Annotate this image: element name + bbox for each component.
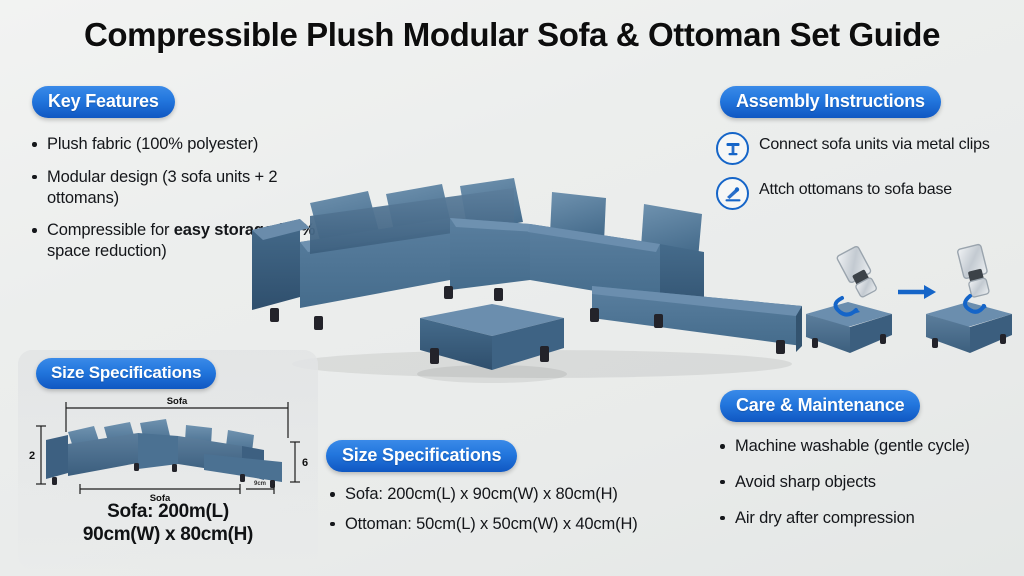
dimension-line-top	[66, 402, 288, 438]
care-list: Machine washable (gentle cycle) Avoid sh…	[716, 436, 1024, 528]
dimension-line-right	[290, 442, 300, 482]
assembly-badge: Assembly Instructions	[720, 86, 941, 118]
dimension-label-right: 6	[302, 457, 308, 469]
size-spec-text: Ottoman: 50cm(L) x 50cm(W) x 40cm(H)	[345, 515, 638, 533]
list-item: Ottoman: 50cm(L) x 50cm(W) x 40cm(H)	[326, 514, 696, 535]
main-sofa-illustration	[252, 168, 822, 393]
care-item-text: Air dry after compression	[735, 509, 915, 527]
metal-clip-icon	[836, 246, 880, 300]
ottoman-step-1	[806, 246, 892, 353]
sofa-set-ottoman	[417, 304, 567, 383]
size-specifications-panel: Size Specifications Sofa	[18, 350, 318, 570]
right-arrow	[898, 285, 936, 299]
dimension-line-left	[36, 426, 46, 484]
care-maintenance-section: Care & Maintenance Machine washable (gen…	[716, 390, 1024, 543]
assembly-step: Connect sofa units via metal clips	[716, 132, 1016, 165]
list-item: Avoid sharp objects	[716, 472, 1024, 493]
key-features-badge: Key Features	[32, 86, 175, 118]
page-title: Compressible Plush Modular Sofa & Ottoma…	[0, 16, 1024, 54]
list-item: Sofa: 200cm(L) x 90cm(W) x 80cm(H)	[326, 484, 696, 505]
dimension-line-bottom	[80, 484, 274, 494]
dimension-label-corner: 9cm	[254, 481, 266, 487]
assembly-step-text: Connect sofa units via metal clips	[759, 132, 990, 154]
metal-clip-icon	[957, 244, 992, 298]
list-item: Machine washable (gentle cycle)	[716, 436, 1024, 457]
list-item: Plush fabric (100% polyester)	[28, 134, 328, 155]
key-feature-text-before: Compressible for	[47, 221, 174, 239]
care-badge: Care & Maintenance	[720, 390, 920, 422]
care-item-text: Avoid sharp objects	[735, 473, 876, 491]
size-panel-caption-line1: Sofa: 200m(L)	[18, 500, 318, 523]
ottoman-step-2	[926, 244, 1012, 353]
key-feature-text-after: space reduction)	[47, 242, 167, 260]
size-specifications-center-section: Size Specifications Sofa: 200cm(L) x 90c…	[326, 440, 696, 544]
key-feature-text: Modular design (3 sofa units + 2 ottoman…	[47, 168, 277, 207]
sofa-dimension-diagram: Sofa 2 6	[24, 392, 314, 502]
size-specifications-list: Sofa: 200cm(L) x 90cm(W) x 80cm(H) Ottom…	[326, 484, 696, 535]
size-panel-badge: Size Specifications	[36, 358, 216, 389]
metal-clip-icon	[716, 132, 749, 165]
dimension-label-left: 2	[29, 450, 35, 462]
size-panel-caption-line2: 90cm(W) x 80cm(H)	[18, 523, 318, 546]
size-spec-text: Sofa: 200cm(L) x 90cm(W) x 80cm(H)	[345, 485, 618, 503]
size-panel-caption: Sofa: 200m(L) 90cm(W) x 80cm(H)	[18, 500, 318, 546]
ottoman-assembly-steps-illustration	[798, 242, 1024, 362]
dimension-label-top: Sofa	[167, 396, 188, 407]
care-item-text: Machine washable (gentle cycle)	[735, 437, 970, 455]
mini-sofa	[46, 419, 282, 488]
key-feature-text: Plush fabric (100% polyester)	[47, 135, 258, 153]
list-item: Air dry after compression	[716, 508, 1024, 529]
size-specifications-badge: Size Specifications	[326, 440, 517, 472]
